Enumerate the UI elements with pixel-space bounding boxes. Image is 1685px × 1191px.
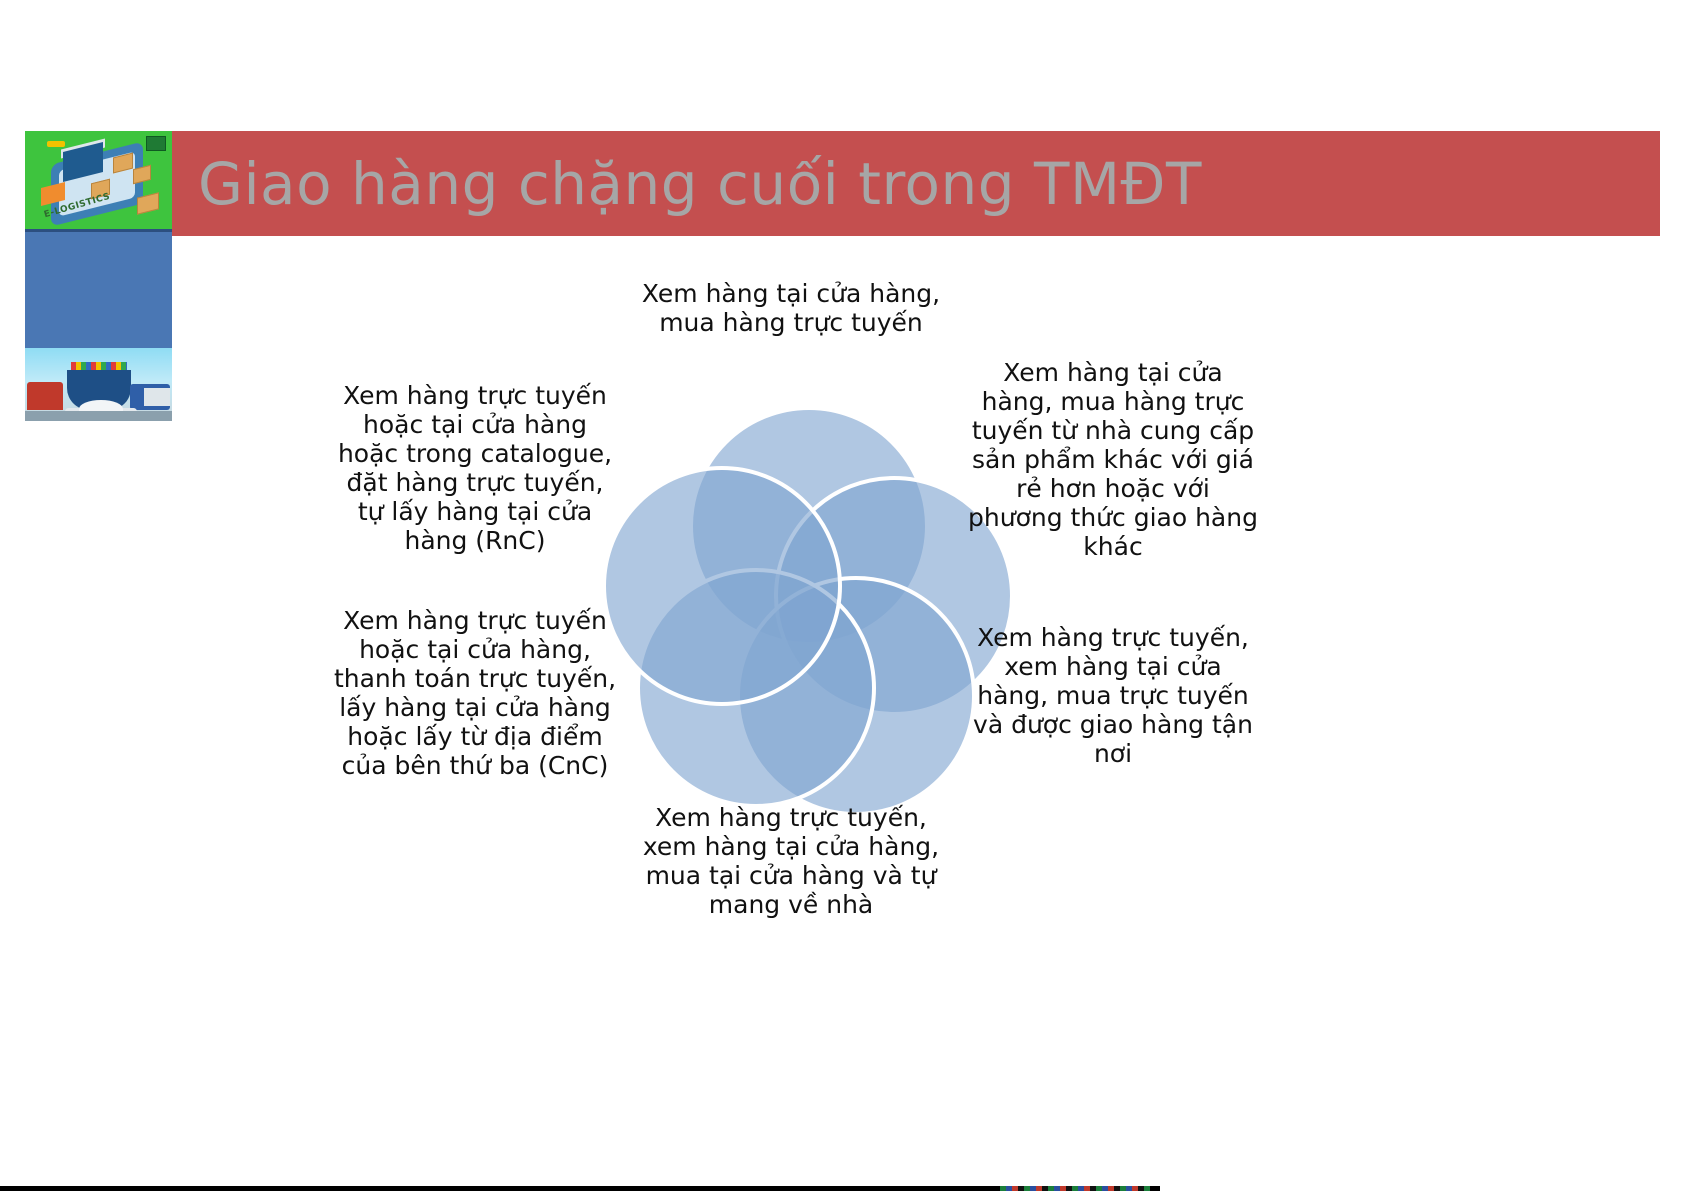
- callout-right-bottom: Xem hàng trực tuyến, xem hàng tại cửa hà…: [968, 623, 1258, 768]
- callout-top: Xem hàng tại cửa hàng, mua hàng trực tuy…: [636, 279, 946, 337]
- drone-icon: [47, 141, 65, 147]
- page-title: Giao hàng chặng cuối trong TMĐT: [198, 143, 1498, 225]
- callout-bottom: Xem hàng trực tuyến, xem hàng tại cửa hà…: [636, 803, 946, 919]
- transport-collage-image: [25, 348, 172, 421]
- logo-badge-icon: [146, 136, 166, 151]
- bottom-rule: [0, 1186, 1160, 1191]
- venn-circles: [604, 408, 1012, 814]
- elogistics-logo-image: E-LOGISTICS: [25, 131, 172, 229]
- callout-right-top: Xem hàng tại cửa hàng, mua hàng trực tuy…: [968, 358, 1258, 561]
- train-icon: [27, 382, 63, 410]
- callout-left-top: Xem hàng trực tuyến hoặc tại cửa hàng ho…: [330, 381, 620, 555]
- callout-left-bottom: Xem hàng trực tuyến hoặc tại cửa hàng, t…: [330, 606, 620, 780]
- bottom-rule-colored-tail: [1000, 1186, 1150, 1191]
- sidebar: E-LOGISTICS: [25, 131, 172, 421]
- venn-circle-upper-left: [604, 468, 840, 704]
- truck-trailer-shape: [144, 388, 170, 406]
- venn-diagram: [604, 396, 1014, 826]
- ground-strip: [25, 411, 172, 421]
- parcel-box-icon: [133, 165, 151, 184]
- sidebar-color-block: [25, 229, 172, 351]
